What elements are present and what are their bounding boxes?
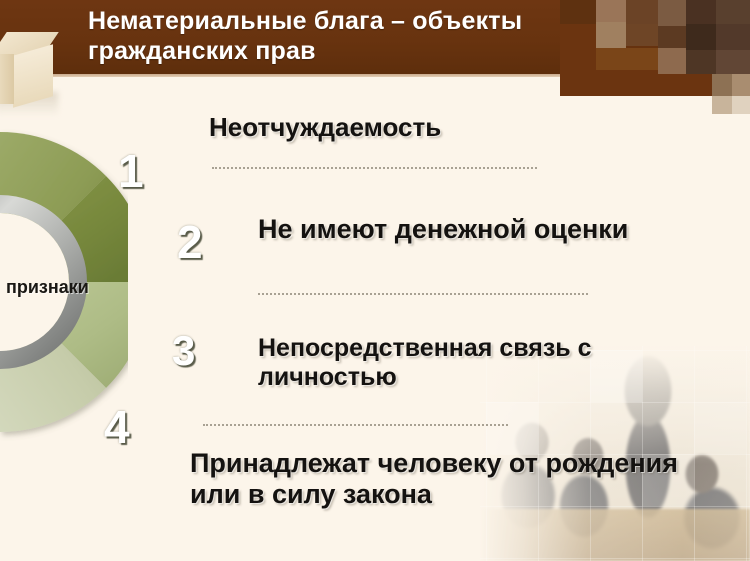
segment-number-2: 2 <box>177 215 203 269</box>
feature-label-1: Неотчуждаемость <box>209 113 569 143</box>
feature-label-3: Непосредственная связь с личностью <box>258 334 728 391</box>
photo-tile <box>694 402 746 454</box>
center-label: признаки <box>6 277 89 298</box>
page-title: Нематериальные блага – объекты гражданск… <box>88 6 608 66</box>
divider-2 <box>258 293 588 295</box>
divider-1 <box>212 167 537 169</box>
box-decoration <box>0 32 64 110</box>
feature-label-2: Не имеют денежной оценки <box>258 214 728 245</box>
feature-label-4: Принадлежат человеку от рождения или в с… <box>190 448 690 510</box>
slide-canvas: Нематериальные блага – объекты гражданск… <box>0 0 750 561</box>
photo-tile <box>486 402 538 454</box>
segment-number-3: 3 <box>172 327 195 375</box>
divider-3 <box>203 424 508 426</box>
